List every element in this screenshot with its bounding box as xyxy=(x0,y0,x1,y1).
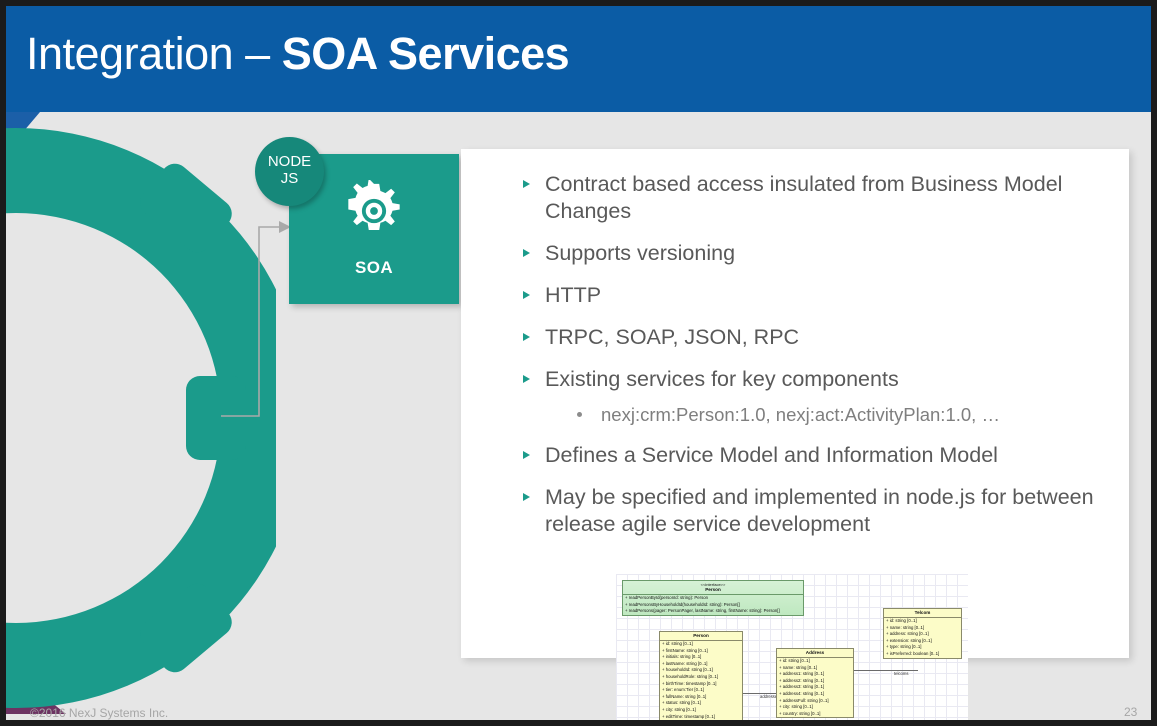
bullet-triangle-icon xyxy=(523,249,530,257)
bullet-triangle-icon xyxy=(523,333,530,341)
bullet-item-level-1: Existing services for key components xyxy=(491,366,1115,393)
bullet-item-level-2: nexj:crm:Person:1.0, nexj:act:ActivityPl… xyxy=(491,403,1115,427)
bullet-text: Supports versioning xyxy=(545,241,735,265)
bullet-text: Contract based access insulated from Bus… xyxy=(545,172,1062,223)
uml-rows: + id: string [0..1]+ name: string [0..1]… xyxy=(777,658,853,717)
title-bold-part: SOA Services xyxy=(282,28,570,79)
bullet-text: Defines a Service Model and Information … xyxy=(545,443,998,467)
uml-attribute-row: + fullName: string [0..1] xyxy=(660,694,742,701)
uml-box-header: <<interface>> Person xyxy=(623,581,803,595)
uml-attribute-row: + country: string [0..1] xyxy=(777,711,853,718)
soa-label: SOA xyxy=(289,258,459,278)
slide-title-bar: Integration – SOA Services xyxy=(6,6,1151,112)
uml-attribute-row: + readPersonById(personId: string): Pers… xyxy=(623,595,803,602)
uml-attribute-row: + addressFull: string [0..1] xyxy=(777,698,853,705)
uml-label-telcoms: telcoms xyxy=(894,671,908,676)
page-number: 23 xyxy=(1124,705,1137,719)
uml-attribute-row: + address1: string [0..1] xyxy=(777,671,853,678)
bullet-triangle-icon xyxy=(523,375,530,383)
gear-icon xyxy=(343,180,405,247)
uml-attribute-row: + extension: string [0..1] xyxy=(884,638,961,645)
bullet-text: nexj:crm:Person:1.0, nexj:act:ActivityPl… xyxy=(601,404,1000,425)
uml-attribute-row: + readPersonsByHouseholdId(householdId: … xyxy=(623,602,803,609)
page-title: Integration – SOA Services xyxy=(26,28,569,80)
uml-rows: + id: string [0..1]+ firstName: string [… xyxy=(660,641,742,720)
uml-attribute-row: + id: string [0..1] xyxy=(777,658,853,665)
bullet-item-level-1: Contract based access insulated from Bus… xyxy=(491,171,1115,225)
uml-attribute-row: + isPreferred: boolean [0..1] xyxy=(884,651,961,658)
bullet-triangle-icon xyxy=(523,493,530,501)
nodejs-badge[interactable]: NODE JS xyxy=(255,137,324,206)
uml-box-address: Address + id: string [0..1]+ name: strin… xyxy=(776,648,854,718)
uml-attribute-row: + tier: enum:Tier [0..1] xyxy=(660,687,742,694)
uml-box-telcom: Telcom + id: string [0..1]+ name: string… xyxy=(883,608,962,659)
uml-box-header: Person xyxy=(660,632,742,641)
uml-attribute-row: + city: string [0..1] xyxy=(777,704,853,711)
bullet-text: TRPC, SOAP, JSON, RPC xyxy=(545,325,799,349)
uml-attribute-row: + status: string [0..1] xyxy=(660,700,742,707)
uml-attribute-row: + householdId: string [0..1] xyxy=(660,667,742,674)
uml-class-diagram: addresses telcoms <<interface>> Person +… xyxy=(616,574,968,720)
uml-assoc-line-3 xyxy=(917,670,918,671)
uml-class-name: Address xyxy=(806,650,824,655)
uml-box-header: Address xyxy=(777,649,853,658)
bullet-text: HTTP xyxy=(545,283,601,307)
bullet-list: Contract based access insulated from Bus… xyxy=(491,159,1115,538)
bullet-triangle-icon xyxy=(523,180,530,188)
nodejs-line-1: NODE xyxy=(255,153,324,170)
uml-rows: + id: string [0..1]+ name: string [0..1]… xyxy=(884,618,961,658)
bullet-text: May be specified and implemented in node… xyxy=(545,485,1094,536)
uml-attribute-row: + type: string [0..1] xyxy=(884,644,961,651)
uml-attribute-row: + householdRole: string [0..1] xyxy=(660,674,742,681)
uml-attribute-row: + readPersons(pager: PersonPager, lastNa… xyxy=(623,608,803,615)
uml-attribute-row: + initials: string [0..1] xyxy=(660,654,742,661)
bullet-text: Existing services for key components xyxy=(545,367,899,391)
uml-rows: + readPersonById(personId: string): Pers… xyxy=(623,595,803,615)
bullet-dot-icon xyxy=(577,412,582,417)
uml-attribute-row: + name: string [0..1] xyxy=(884,625,961,632)
uml-class-name: Telcom xyxy=(915,610,931,615)
bullet-item-level-1: May be specified and implemented in node… xyxy=(491,484,1115,538)
uml-attribute-row: + lastName: string [0..1] xyxy=(660,661,742,668)
uml-attribute-row: + address: string [0..1] xyxy=(884,631,961,638)
uml-class-name: Person xyxy=(693,633,709,638)
uml-box-header: Telcom xyxy=(884,609,961,618)
bullet-item-level-1: Supports versioning xyxy=(491,240,1115,267)
slide: Integration – SOA Services Integration xyxy=(6,6,1151,720)
uml-class-name: Person xyxy=(705,587,721,592)
uml-box-person: Person + id: string [0..1]+ firstName: s… xyxy=(659,631,743,720)
uml-attribute-row: + address3: string [0..1] xyxy=(777,684,853,691)
uml-attribute-row: + birthTime: timestamp [0..1] xyxy=(660,681,742,688)
bullet-item-level-1: Defines a Service Model and Information … xyxy=(491,442,1115,469)
copyright-text: ©2016 NexJ Systems Inc. xyxy=(30,706,168,720)
bullet-item-level-1: TRPC, SOAP, JSON, RPC xyxy=(491,324,1115,351)
uml-attribute-row: + address2: string [0..1] xyxy=(777,678,853,685)
uml-attribute-row: + editTime: timestamp [0..1] xyxy=(660,714,742,720)
uml-attribute-row: + firstName: string [0..1] xyxy=(660,648,742,655)
uml-attribute-row: + address4: string [0..1] xyxy=(777,691,853,698)
uml-attribute-row: + id: string [0..1] xyxy=(660,641,742,648)
bullet-triangle-icon xyxy=(523,451,530,459)
uml-attribute-row: + city: string [0..1] xyxy=(660,707,742,714)
nodejs-line-2: JS xyxy=(255,170,324,187)
title-light-part: Integration – xyxy=(26,28,282,79)
uml-attribute-row: + name: string [0..1] xyxy=(777,665,853,672)
uml-box-interface-person: <<interface>> Person + readPersonById(pe… xyxy=(622,580,804,616)
uml-attribute-row: + id: string [0..1] xyxy=(884,618,961,625)
bullet-triangle-icon xyxy=(523,291,530,299)
bullet-item-level-1: HTTP xyxy=(491,282,1115,309)
gear-svg xyxy=(343,180,405,242)
